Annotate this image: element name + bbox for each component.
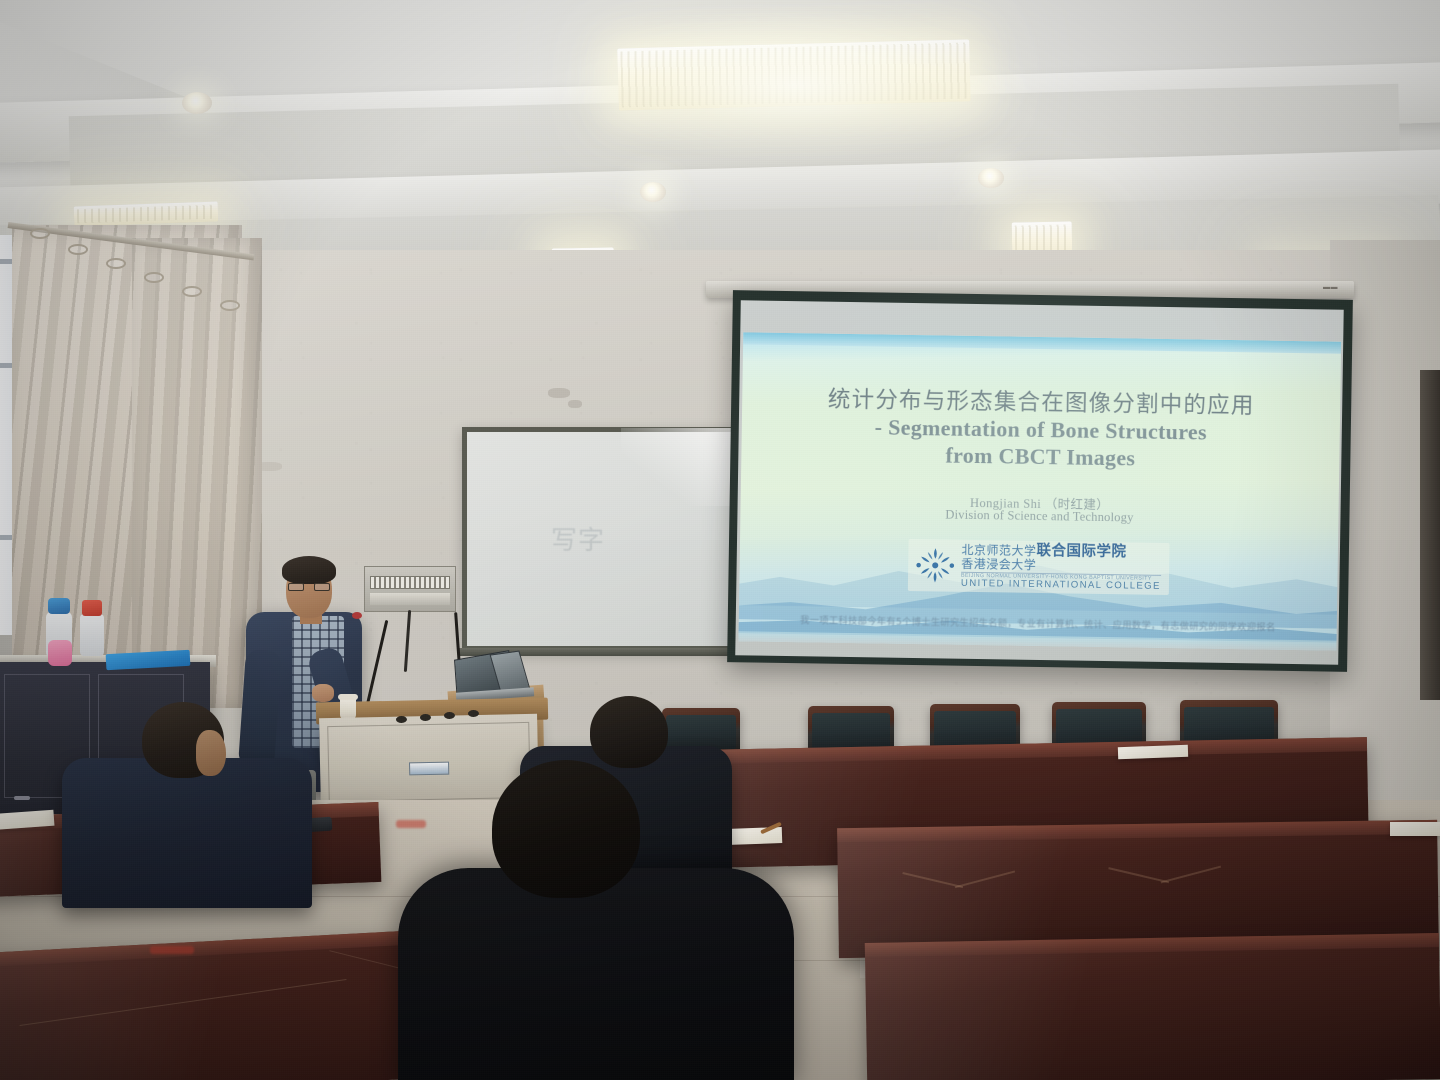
ceiling-light-panel-center [617,39,971,110]
chair-backrest [812,713,890,749]
uic-logo-chinese2: 香港浸会大学 [961,557,1161,572]
table-chevron-motif [1161,866,1226,899]
ceiling-spotlight-left [182,92,212,114]
presentation-slide: 统计分布与形态集合在图像分割中的应用 - Segmentation of Bon… [738,332,1341,650]
notepad [726,827,783,845]
spray-bottle-red-cap [82,600,102,616]
ceiling-spotlight-right [978,168,1004,188]
lecture-room-photo: 写字 ▬▬ [0,0,1440,1080]
curtain-grommet [144,272,164,283]
presenter-hair [282,556,336,584]
microphone-head [352,612,362,619]
projection-screen: 统计分布与形态集合在图像分割中的应用 - Segmentation of Bon… [727,290,1353,672]
whiteboard-glare [621,428,741,506]
wall-scuff-2 [568,400,582,408]
red-reflection-foreground [150,946,194,954]
uic-logo: 北京师范大学联合国际学院 香港浸会大学 BEIJING NORMAL UNIVE… [908,539,1170,595]
breaker-switch-row [370,576,450,589]
breaker-lower-plate [370,593,450,605]
housing-brand-label: ▬▬ [1323,284,1338,291]
electrical-breaker-panel [364,566,456,612]
whiteboard-residual-writing: 写字 [551,520,635,550]
door-frame [1420,370,1440,700]
paper-sheet [1118,745,1188,759]
curtain-grommet [106,258,126,269]
screen-surface: 统计分布与形态集合在图像分割中的应用 - Segmentation of Bon… [735,300,1344,664]
curtain-grommet [220,300,240,311]
uic-logo-text: 北京师范大学联合国际学院 香港浸会大学 BEIJING NORMAL UNIVE… [961,543,1162,592]
curtain-grommet [68,244,88,255]
chair-empty[interactable] [808,706,894,752]
spray-bottle-white-2 [80,614,104,656]
slide-top-band [743,332,1341,353]
uic-logo-mark-icon [916,544,955,587]
table-chevron-motif [899,872,963,904]
paper-cup [340,697,356,719]
audience-torso [62,758,312,908]
audience-head [492,760,640,898]
podium-control-badge [409,762,449,776]
table-chevron-motif [955,870,1020,903]
conference-table-right-foreground [865,933,1440,1080]
curtain-grommet [30,228,50,239]
uic-logo-en-big: UNITED INTERNATIONAL COLLEGE [961,579,1161,592]
table-chevron-motif [1105,867,1169,899]
wall-scuff-1 [548,388,570,398]
whiteboard: 写字 [462,427,742,651]
presenter-hand [312,684,334,702]
audience-torso [398,868,794,1080]
audience-face [196,730,226,776]
spray-bottle-pink [48,640,72,666]
audience-head [590,696,668,768]
uic-cn-line2: 香港浸会大学 [961,556,1036,571]
cabinet-handle-left[interactable] [14,796,30,800]
red-reflection [396,820,426,828]
ceiling-spotlight-center [640,182,666,202]
presenter-glasses-icon [288,583,330,591]
paper-cup-lid [338,694,358,700]
slide-title-english: - Segmentation of Bone Structures from C… [741,412,1340,475]
chair-backrest [666,715,736,749]
paper-sheet-right [1390,822,1440,836]
spray-bottle-blue-cap [48,598,70,614]
curtain-grommet [182,286,202,297]
curtain-panel-right [132,238,262,708]
